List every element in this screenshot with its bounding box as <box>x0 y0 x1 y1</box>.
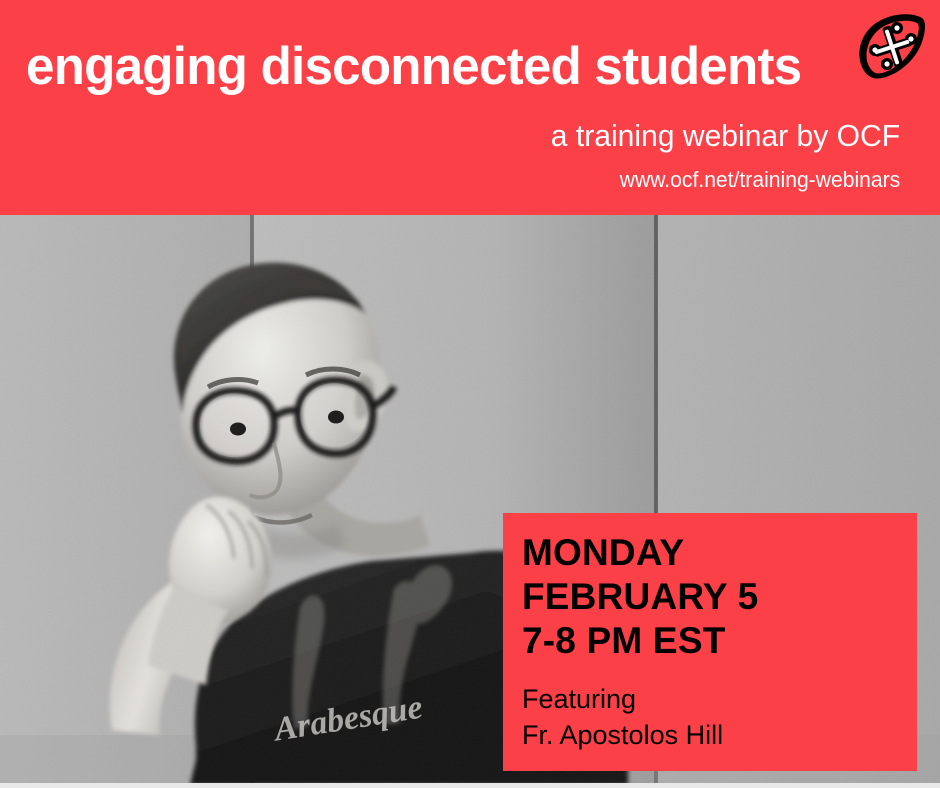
bottom-edge-strip <box>0 783 940 788</box>
event-date: FEBRUARY 5 <box>522 575 917 619</box>
event-details-card: MONDAY FEBRUARY 5 7-8 PM EST Featuring F… <box>503 513 917 771</box>
poster-url[interactable]: www.ocf.net/training-webinars <box>619 167 900 193</box>
header-band: engaging disconnected students a trainin… <box>0 0 940 215</box>
ocf-shield-cross-logo <box>852 12 930 82</box>
poster: engaging disconnected students a trainin… <box>0 0 940 788</box>
poster-subtitle: a training webinar by OCF <box>551 118 900 154</box>
event-time: 7-8 PM EST <box>522 619 917 663</box>
page-title: engaging disconnected students <box>26 38 801 96</box>
event-day: MONDAY <box>522 531 917 575</box>
featuring-label: Featuring <box>522 681 917 717</box>
speaker-name: Fr. Apostolos Hill <box>522 717 917 753</box>
